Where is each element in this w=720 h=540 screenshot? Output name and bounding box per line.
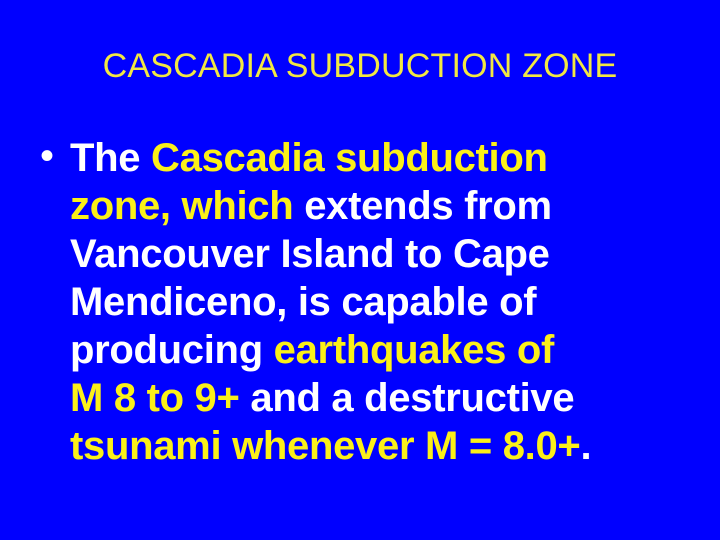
body-text: Mendiceno, is capable of — [70, 280, 536, 324]
slide-body: • The Cascadia subductionzone, which ext… — [38, 134, 662, 470]
body-text: Vancouver Island to Cape — [70, 232, 550, 276]
body-text: . — [581, 424, 592, 468]
body-text: and a destructive — [250, 376, 574, 420]
highlighted-text: earthquakes of — [274, 328, 554, 372]
body-text: The — [70, 136, 151, 180]
bullet-text: The Cascadia subductionzone, which exten… — [70, 134, 662, 470]
body-text: producing — [70, 328, 274, 372]
bullet-icon: • — [40, 134, 64, 182]
bullet-line: producing earthquakes of — [70, 326, 662, 374]
highlighted-text: Cascadia subduction — [151, 136, 548, 180]
bullet-line: M 8 to 9+ and a destructive — [70, 374, 662, 422]
page-title: CASCADIA SUBDUCTION ZONE — [0, 46, 720, 86]
body-text: extends from — [304, 184, 552, 228]
highlighted-text: zone, which — [70, 184, 304, 228]
highlighted-text: tsunami whenever M = 8.0+ — [70, 424, 581, 468]
bullet-line: tsunami whenever M = 8.0+. — [70, 422, 662, 470]
bullet-line: zone, which extends from — [70, 182, 662, 230]
list-item: • The Cascadia subductionzone, which ext… — [38, 134, 662, 470]
presentation-slide: CASCADIA SUBDUCTION ZONE • The Cascadia … — [0, 0, 720, 540]
highlighted-text: M 8 to 9+ — [70, 376, 250, 420]
bullet-line: Vancouver Island to Cape — [70, 230, 662, 278]
bullet-line: Mendiceno, is capable of — [70, 278, 662, 326]
bullet-line: The Cascadia subduction — [70, 134, 662, 182]
